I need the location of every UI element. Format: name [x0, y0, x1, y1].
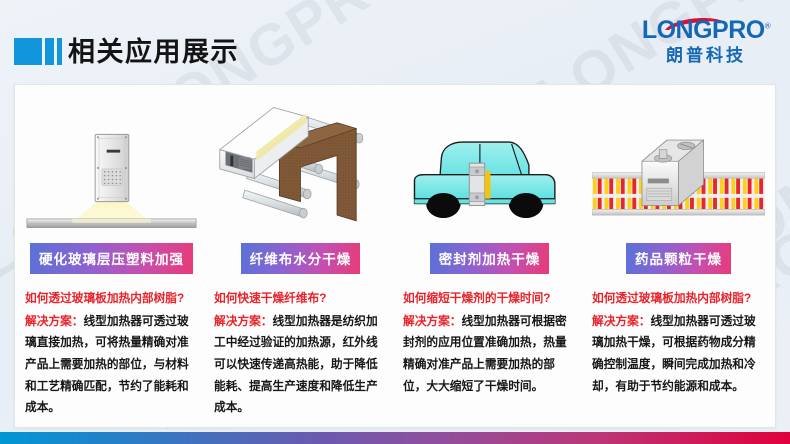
card-solution-label: 解决方案：	[403, 315, 461, 328]
logo-chinese-name: 朗普科技	[636, 47, 776, 64]
card-badge: 纤维布水分干燥	[241, 243, 361, 274]
content-panel: 硬化玻璃层压塑料加强 如何透过玻璃板加热内部树脂? 解决方案：线型加热器可透过玻…	[14, 84, 776, 428]
application-card: 密封剂加热干燥 如何缩短干燥剂的干燥时间? 解决方案：线型加热器可根据密封剂的应…	[395, 91, 584, 427]
application-card: 药品颗粒干燥 如何透过玻璃板加热内部树脂? 解决方案：线型加热器可透过玻璃加热干…	[584, 91, 773, 427]
card-badge: 药品颗粒干燥	[626, 243, 731, 274]
illustration-car-body-sealant-heater	[403, 95, 576, 240]
card-question: 如何透过玻璃板加热内部树脂?	[592, 288, 765, 310]
illustration-granule-conveyor-heater	[592, 95, 765, 240]
card-text: 如何透过玻璃板加热内部树脂? 解决方案：线型加热器可透过玻璃直接加热，可将热量精…	[25, 288, 198, 419]
logo-wordmark: LONGPRO®	[642, 18, 770, 43]
card-solution-text: 线型加热器可透过玻璃直接加热，可将热量精确对准产品上需要加热的部位，与材料和工艺…	[25, 315, 189, 415]
card-question: 如何缩短干燥剂的干燥时间?	[403, 288, 576, 310]
card-text: 如何缩短干燥剂的干燥时间? 解决方案：线型加热器可根据密封剂的应用位置准确加热，…	[403, 288, 576, 397]
card-badge: 硬化玻璃层压塑料加强	[30, 243, 193, 274]
logo-registered-mark: ®	[765, 22, 770, 31]
page-title: 相关应用展示	[68, 30, 239, 69]
application-card: 硬化玻璃层压塑料加强 如何透过玻璃板加热内部树脂? 解决方案：线型加热器可透过玻…	[17, 91, 206, 427]
brand-logo: LONGPRO® 朗普科技	[636, 18, 776, 64]
application-card: 纤维布水分干燥 如何快速干燥纤维布? 解决方案：线型加热器是纺织加工中经过验证的…	[206, 91, 395, 427]
illustration-heater-lamp-over-glass-panel	[25, 95, 198, 240]
illustration-fabric-web-rollers-heater	[214, 95, 387, 240]
card-solution-label: 解决方案：	[214, 315, 272, 328]
page-header: 相关应用展示 LONGPRO® 朗普科技	[0, 0, 790, 84]
card-badge: 密封剂加热干燥	[430, 243, 550, 274]
card-question: 如何快速干燥纤维布?	[214, 288, 387, 310]
card-question: 如何透过玻璃板加热内部树脂?	[25, 288, 198, 310]
card-text: 如何透过玻璃板加热内部树脂? 解决方案：线型加热器可透过玻璃加热干燥，可根据药物…	[592, 288, 765, 397]
bottom-accent-bar	[0, 432, 790, 444]
card-text: 如何快速干燥纤维布? 解决方案：线型加热器是纺织加工中经过验证的加热源，红外线可…	[214, 288, 387, 419]
title-accent-bars-icon	[14, 38, 62, 65]
card-solution-text: 线型加热器是纺织加工中经过验证的加热源，红外线可以快速传递高热能，助于降低能耗、…	[214, 315, 378, 415]
card-solution-label: 解决方案：	[592, 315, 650, 328]
card-solution-label: 解决方案：	[25, 315, 83, 328]
cards-row: 硬化玻璃层压塑料加强 如何透过玻璃板加热内部树脂? 解决方案：线型加热器可透过玻…	[15, 85, 775, 427]
logo-wordmark-text: LONGPRO	[642, 16, 765, 44]
